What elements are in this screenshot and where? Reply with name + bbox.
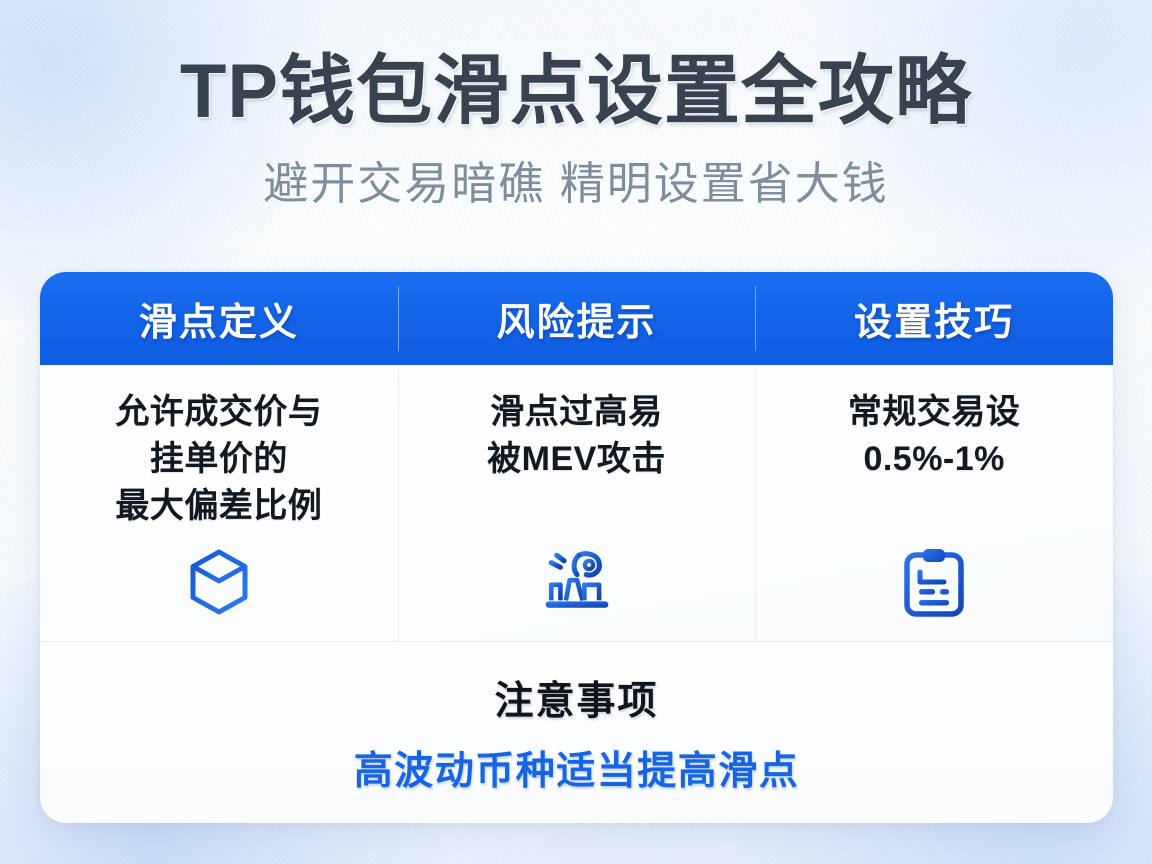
content-card: 滑点定义 风险提示 设置技巧 允许成交价与挂单价的最大偏差比例 bbox=[40, 272, 1113, 823]
infographic-poster: TP钱包滑点设置全攻略 避开交易暗礁 精明设置省大钱 滑点定义 风险提示 设置技… bbox=[0, 0, 1152, 864]
poster-header: TP钱包滑点设置全攻略 避开交易暗礁 精明设置省大钱 bbox=[0, 52, 1152, 212]
column-header-label: 滑点定义 bbox=[139, 291, 299, 346]
cube-icon bbox=[184, 547, 254, 617]
column-header-slippage-definition: 滑点定义 bbox=[40, 272, 398, 365]
page-title: TP钱包滑点设置全攻略 bbox=[0, 52, 1152, 131]
card-header-row: 滑点定义 风险提示 设置技巧 bbox=[40, 272, 1113, 365]
column-header-label: 风险提示 bbox=[497, 291, 657, 346]
column-header-risk-warning: 风险提示 bbox=[398, 272, 756, 365]
column-setting-tips: 常规交易设0.5%-1% bbox=[755, 365, 1113, 641]
column-slippage-definition: 允许成交价与挂单价的最大偏差比例 bbox=[40, 365, 398, 641]
column-header-label: 设置技巧 bbox=[854, 291, 1014, 346]
column-body-text: 允许成交价与挂单价的最大偏差比例 bbox=[115, 389, 322, 530]
card-body-row: 允许成交价与挂单价的最大偏差比例 bbox=[40, 365, 1113, 641]
footer-title: 注意事项 bbox=[494, 670, 658, 726]
column-body-text: 常规交易设0.5%-1% bbox=[848, 389, 1021, 483]
column-risk-warning: 滑点过高易被MEV攻击 bbox=[398, 365, 756, 641]
column-body-text: 滑点过高易被MEV攻击 bbox=[487, 389, 666, 483]
column-header-setting-tips: 设置技巧 bbox=[755, 272, 1113, 365]
clipboard-icon bbox=[899, 547, 969, 617]
hacker-laptop-icon bbox=[542, 547, 612, 617]
card-footer: 注意事项 高波动币种适当提高滑点 bbox=[40, 641, 1113, 823]
page-subtitle: 避开交易暗礁 精明设置省大钱 bbox=[0, 147, 1152, 212]
footer-note: 高波动币种适当提高滑点 bbox=[354, 740, 800, 796]
